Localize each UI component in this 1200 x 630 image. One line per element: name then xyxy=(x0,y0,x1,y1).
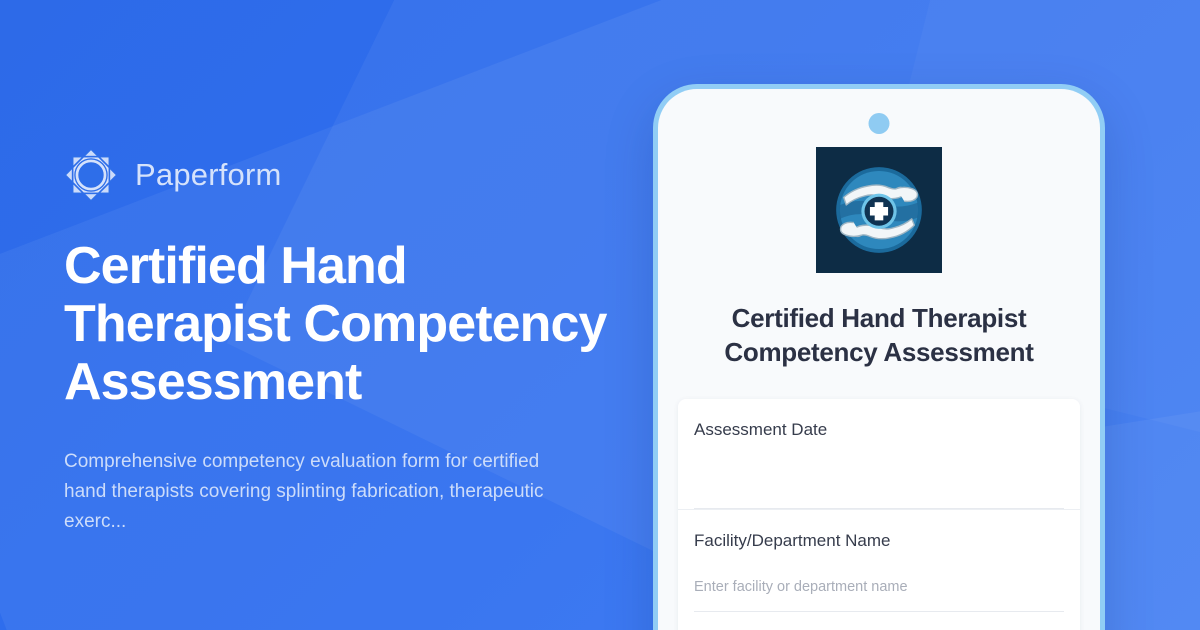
phone-mockup: Certified Hand Therapist Competency Asse… xyxy=(653,84,1105,630)
page-description: Comprehensive competency evaluation form… xyxy=(64,447,564,538)
field-label: Assessment Date xyxy=(694,419,1064,442)
og-share-card: Paperform Certified Hand Therapist Compe… xyxy=(0,0,1200,630)
camera-dot-icon xyxy=(869,113,890,134)
field-placeholder: Enter facility or department name xyxy=(694,579,908,595)
brand-name: Paperform xyxy=(135,157,282,193)
field-label: Facility/Department Name xyxy=(694,530,1064,553)
brand-lockup: Paperform xyxy=(64,145,644,205)
page-title: Certified Hand Therapist Competency Asse… xyxy=(64,237,624,412)
form-card: Assessment Date Facility/Department Name… xyxy=(678,399,1080,630)
assessment-date-input[interactable] xyxy=(694,452,1064,509)
form-field-facility-department-name: Facility/Department Name Enter facility … xyxy=(678,509,1080,612)
hero-text-column: Paperform Certified Hand Therapist Compe… xyxy=(64,145,644,557)
form-title: Certified Hand Therapist Competency Asse… xyxy=(658,302,1100,369)
caring-hands-medical-globe-logo-icon xyxy=(816,147,942,273)
facility-department-name-input[interactable]: Enter facility or department name xyxy=(694,563,1064,612)
form-field-assessment-date: Assessment Date xyxy=(678,399,1080,509)
paperform-logo-icon xyxy=(64,148,118,202)
